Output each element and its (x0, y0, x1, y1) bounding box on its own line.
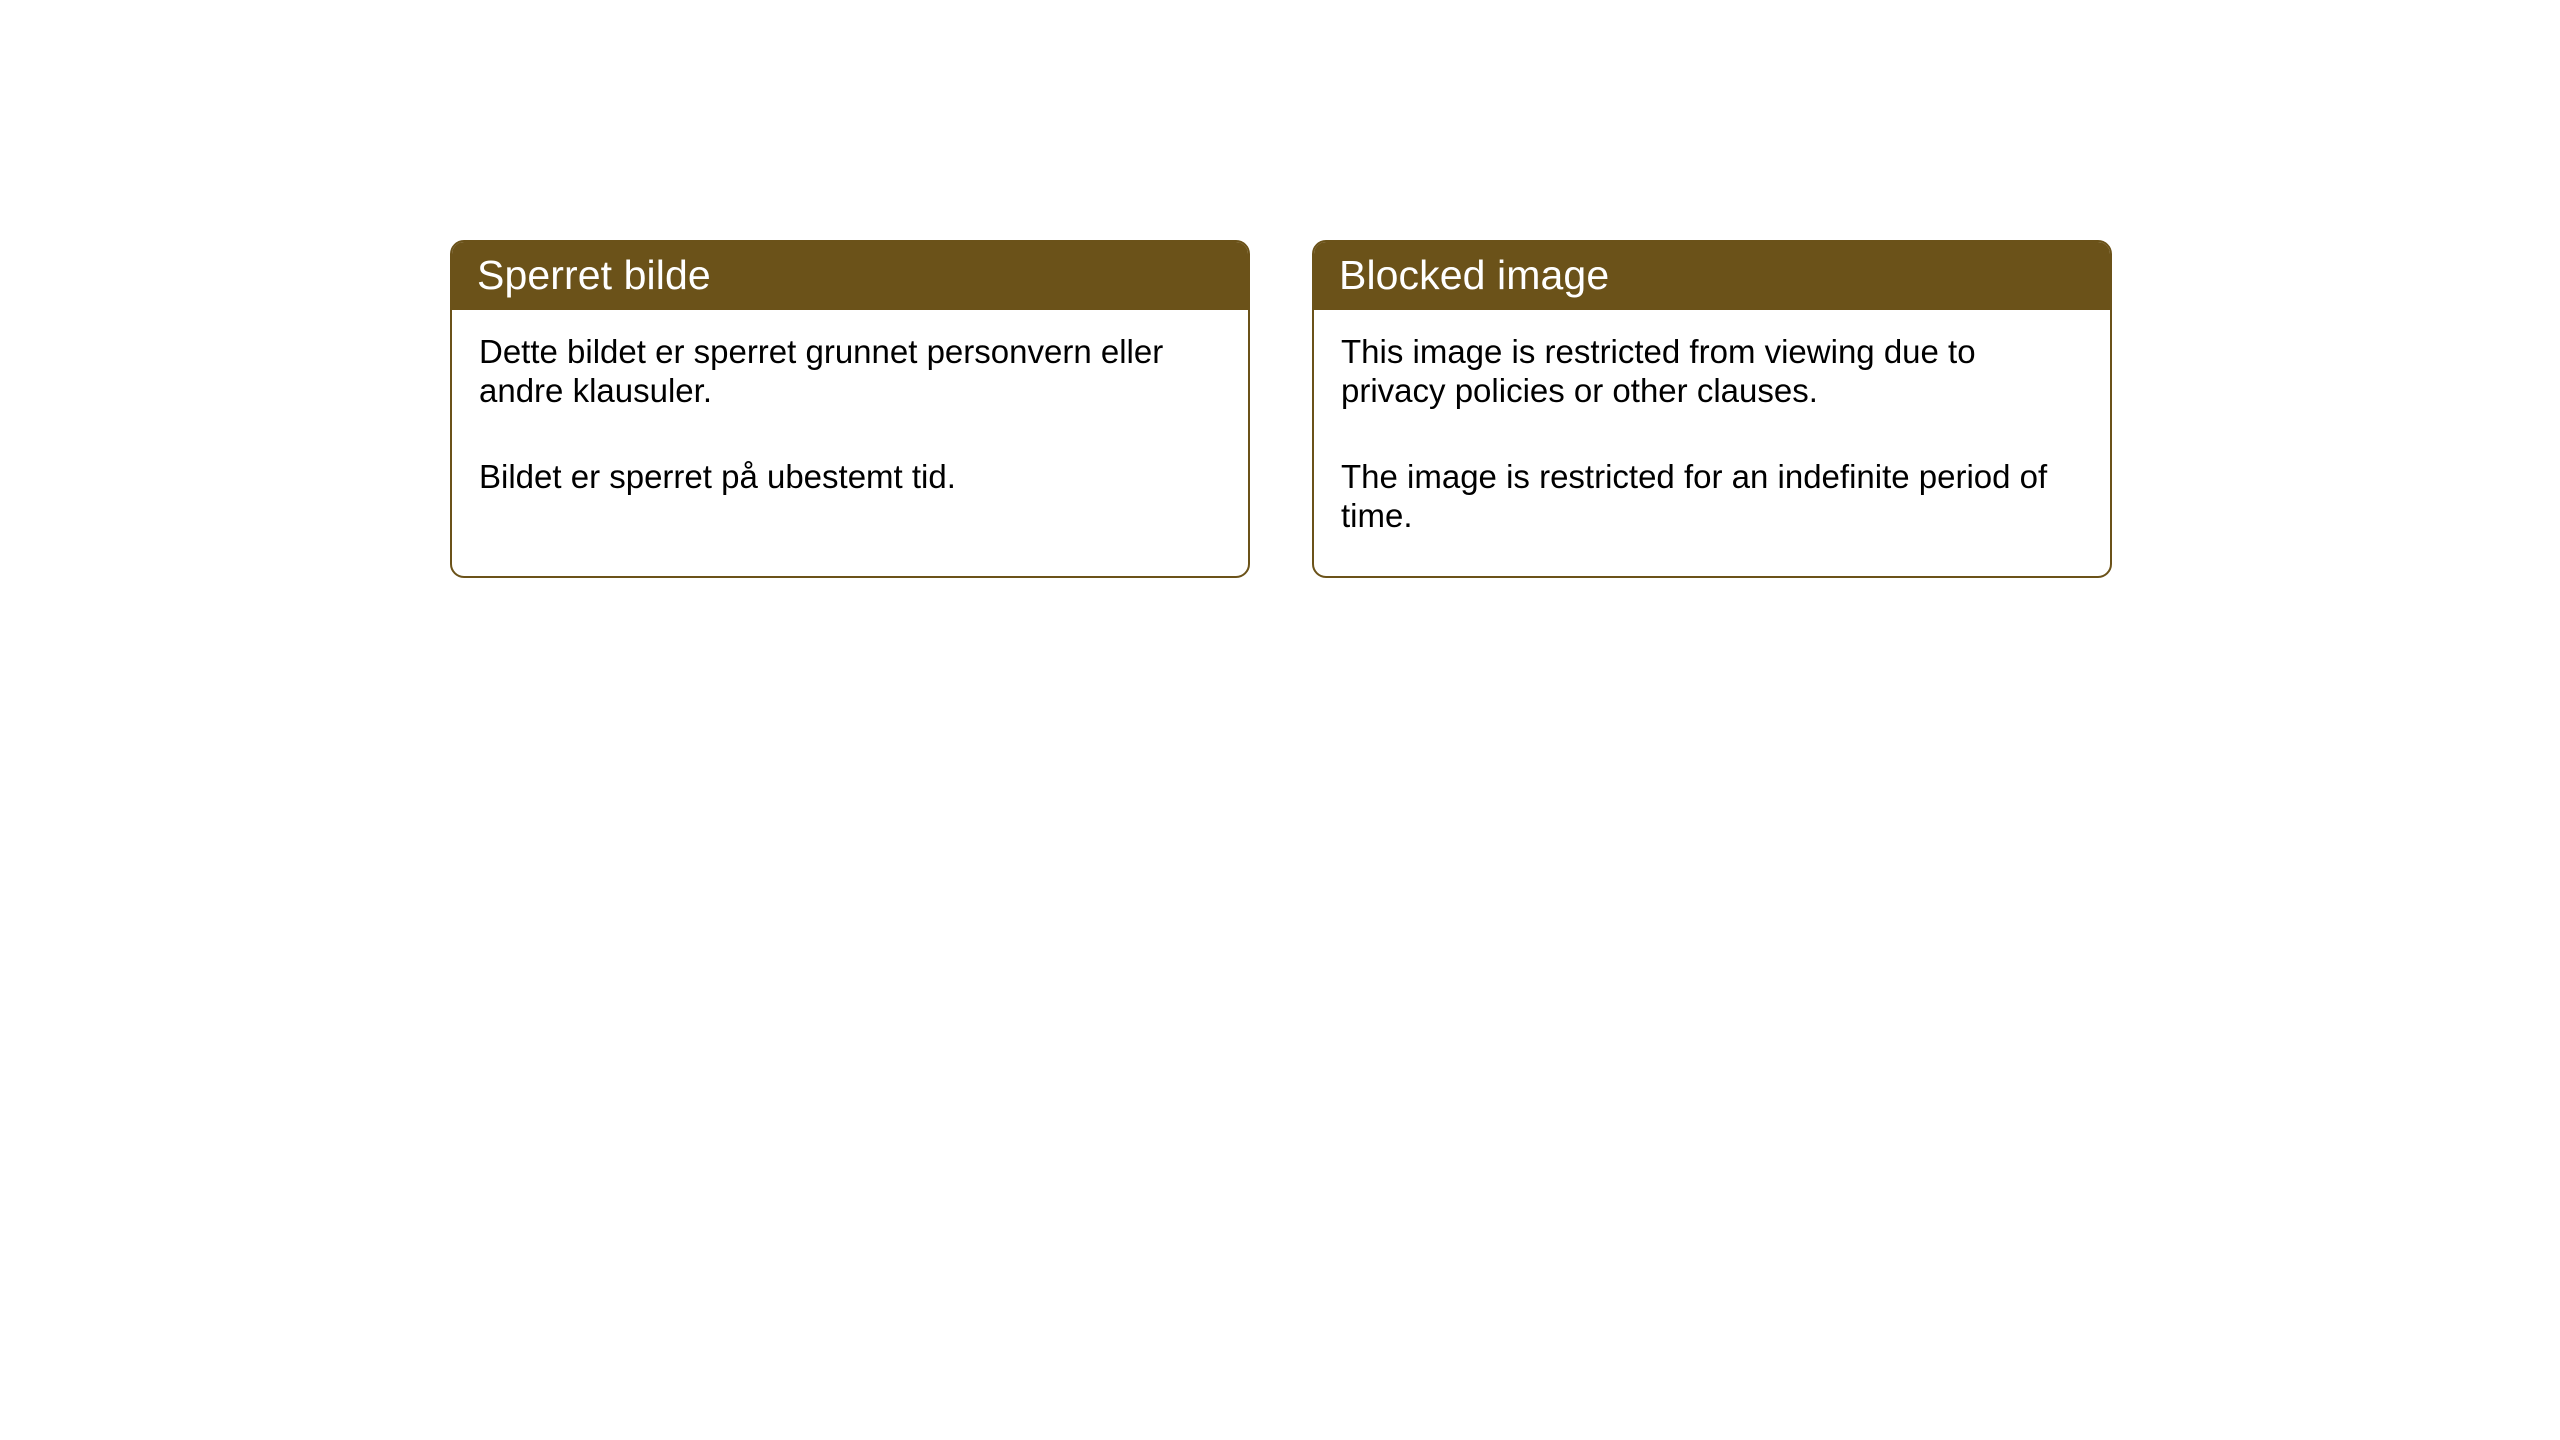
panel-body-english: This image is restricted from viewing du… (1314, 310, 2110, 576)
panel-paragraph-reason-norwegian: Dette bildet er sperret grunnet personve… (479, 332, 1222, 411)
panel-paragraph-reason-english: This image is restricted from viewing du… (1341, 332, 2084, 411)
panel-title-norwegian: Sperret bilde (452, 242, 1248, 310)
blocked-image-panel-norwegian: Sperret bilde Dette bildet er sperret gr… (450, 240, 1250, 578)
panel-title-english: Blocked image (1314, 242, 2110, 310)
panel-paragraph-duration-norwegian: Bildet er sperret på ubestemt tid. (479, 457, 1222, 496)
blocked-image-panel-english: Blocked image This image is restricted f… (1312, 240, 2112, 578)
panel-paragraph-duration-english: The image is restricted for an indefinit… (1341, 457, 2084, 536)
panel-body-norwegian: Dette bildet er sperret grunnet personve… (452, 310, 1248, 576)
blocked-image-notice-group: Sperret bilde Dette bildet er sperret gr… (450, 240, 2112, 578)
